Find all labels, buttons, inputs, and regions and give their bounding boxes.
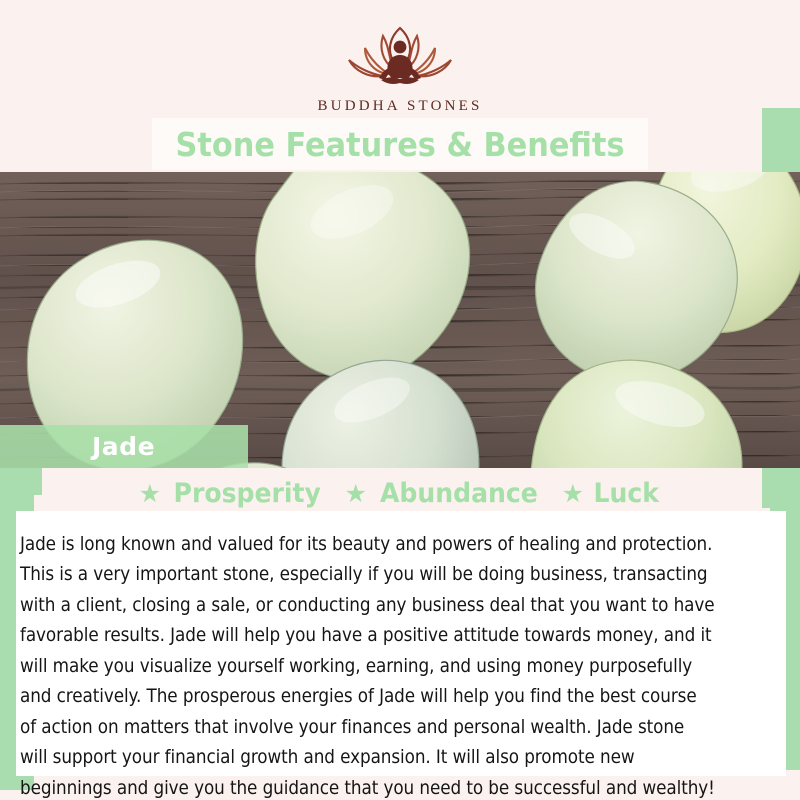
benefit-item-abundance: ★ Abundance [344,478,543,509]
benefit-item-prosperity: ★ Prosperity [139,478,327,509]
jade-tumbled-stones-photo [0,172,800,468]
star-icon: ★ [139,481,161,506]
stone-name-label: Jade [0,425,248,468]
star-icon: ★ [562,481,584,506]
photo-artwork [0,172,800,468]
benefits-row: ★ Prosperity ★ Abundance ★ Luck [0,478,800,509]
stone-name-text: Jade [92,432,155,461]
benefit-item-luck: ★ Luck [562,478,662,509]
description-text: Jade is long known and valued for its be… [20,530,715,800]
header-banner: Stone Features & Benefits [152,118,648,170]
benefit-label: Prosperity [174,478,321,509]
infographic-page: BUDDHA STONES Stone Features & Benefits [0,0,800,800]
page-title: Stone Features & Benefits [175,125,624,164]
benefit-label: Abundance [380,478,538,509]
brand-wordmark: BUDDHA STONES [0,98,800,115]
benefit-label: Luck [594,478,659,509]
lotus-meditation-icon [325,18,475,94]
brand-logo: BUDDHA STONES [0,18,800,115]
description-panel: Jade is long known and valued for its be… [16,511,786,776]
star-icon: ★ [344,481,366,506]
